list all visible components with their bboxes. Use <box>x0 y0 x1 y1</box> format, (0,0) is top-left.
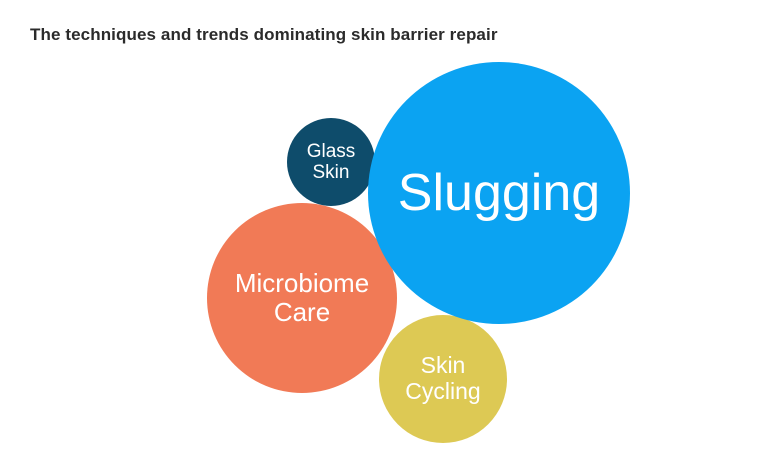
bubble-chart: The techniques and trends dominating ski… <box>0 0 768 466</box>
bubble-label-slugging: Slugging <box>394 164 604 222</box>
bubble-label-skin-cycling: Skin Cycling <box>401 353 484 405</box>
bubble-label-glass-skin: Glass Skin <box>303 141 360 184</box>
bubble-skin-cycling[interactable]: Skin Cycling <box>379 315 507 443</box>
bubble-glass-skin[interactable]: Glass Skin <box>287 118 375 206</box>
bubble-layer: Slugging Microbiome Care Skin Cycling Gl… <box>0 0 768 466</box>
bubble-slugging[interactable]: Slugging <box>368 62 630 324</box>
bubble-label-microbiome-care: Microbiome Care <box>231 269 373 327</box>
bubble-microbiome-care[interactable]: Microbiome Care <box>207 203 397 393</box>
